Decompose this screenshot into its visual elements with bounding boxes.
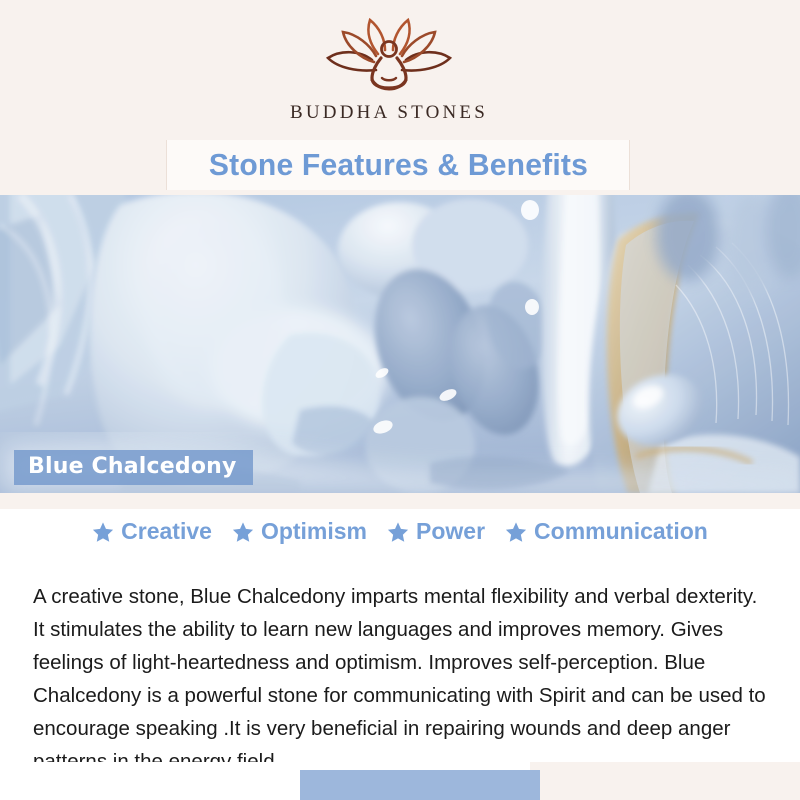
header: BUDDHA STONES Stone Features & Benefits (0, 0, 800, 196)
content-panel: Creative Optimism Power Communication (0, 493, 800, 770)
keyword-item: Communication (505, 518, 708, 545)
description-text: A creative stone, Blue Chalcedony impart… (33, 580, 770, 778)
keyword-item: Creative (92, 518, 212, 545)
star-icon (92, 521, 114, 543)
keyword-label: Communication (534, 518, 708, 545)
page-title: Stone Features & Benefits (208, 147, 587, 183)
stone-name-caption: Blue Chalcedony (14, 450, 253, 485)
stone-photo-image (0, 195, 800, 493)
keyword-item: Optimism (232, 518, 367, 545)
keyword-label: Power (416, 518, 485, 545)
star-icon (387, 521, 409, 543)
keyword-list: Creative Optimism Power Communication (0, 518, 800, 545)
keyword-label: Creative (121, 518, 212, 545)
star-icon (232, 521, 254, 543)
stone-photo: Blue Chalcedony (0, 195, 800, 493)
infographic-page: BUDDHA STONES Stone Features & Benefits (0, 0, 800, 800)
content-top-strip (0, 493, 800, 509)
keyword-label: Optimism (261, 518, 367, 545)
brand-wordmark: BUDDHA STONES (290, 102, 488, 124)
keyword-item: Power (387, 518, 485, 545)
star-icon (505, 521, 527, 543)
brand-logo: BUDDHA STONES (0, 14, 778, 124)
bottom-cream-area (530, 762, 800, 800)
lotus-meditation-figure-icon (314, 14, 464, 100)
header-inner: BUDDHA STONES Stone Features & Benefits (0, 0, 778, 196)
section-title-plate: Stone Features & Benefits (166, 140, 630, 190)
frame-accent-bottom-mid (300, 770, 540, 800)
